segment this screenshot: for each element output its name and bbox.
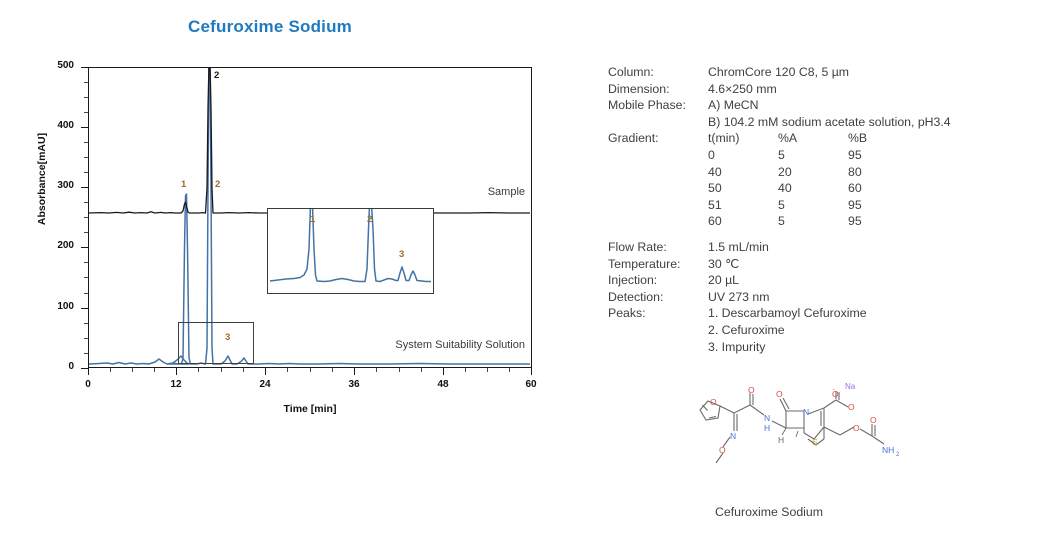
method-row-detection: Detection: UV 273 nm <box>608 289 1048 306</box>
atom-label-o-minus: - <box>833 387 835 393</box>
method-row-temperature: Temperature: 30 ℃ <box>608 256 1048 273</box>
x-axis-tick <box>354 368 355 375</box>
method-row-injection: Injection: 20 µL <box>608 272 1048 289</box>
sample-trace-label: Sample <box>488 186 525 198</box>
peaks-label: Peaks: <box>608 305 708 322</box>
x-axis-minor-tick <box>310 368 311 372</box>
x-axis-minor-tick <box>132 368 133 372</box>
x-axis-minor-tick <box>465 368 466 372</box>
peaks-row-2: 2. Cefuroxime <box>608 322 1048 339</box>
x-axis-tick <box>265 368 266 375</box>
x-axis-minor-tick <box>221 368 222 372</box>
x-axis-tick <box>443 368 444 375</box>
method-value: 20 µL <box>708 272 1048 289</box>
method-value: 4.6×250 mm <box>708 81 1048 98</box>
atom-label-o: O <box>870 415 877 425</box>
x-tick-label: 36 <box>334 379 374 390</box>
gradient-cell-b: 80 <box>848 164 918 181</box>
peak-identity: 2. Cefuroxime <box>708 322 785 339</box>
x-tick-label: 24 <box>245 379 285 390</box>
gradient-cell-time: 40 <box>708 164 778 181</box>
method-row-dimension: Dimension: 4.6×250 mm <box>608 81 1048 98</box>
x-axis-minor-tick <box>154 368 155 372</box>
peak-identity: 1. Descarbamoyl Cefuroxime <box>708 305 867 322</box>
x-axis-minor-tick <box>287 368 288 372</box>
atom-label-h: H <box>764 423 770 433</box>
suitability-peak-label-1: 1 <box>181 179 186 190</box>
x-axis-tick <box>176 368 177 375</box>
gradient-cell-time: 51 <box>708 197 778 214</box>
structure-caption: Cefuroxime Sodium <box>715 505 823 519</box>
atom-label-n: N <box>764 413 770 423</box>
gradient-header-b: %B <box>848 130 918 147</box>
gradient-cell-a: 40 <box>778 180 848 197</box>
x-axis-minor-tick <box>509 368 510 372</box>
x-axis-tick <box>531 368 532 375</box>
x-axis-minor-tick <box>198 368 199 372</box>
method-value: 1.5 mL/min <box>708 239 1048 256</box>
atom-label-o: O <box>853 423 860 433</box>
atom-label-o: O <box>848 402 855 412</box>
atom-label-o: O <box>776 389 783 399</box>
inset-magnified-view: 1 2 3 <box>267 208 434 294</box>
atom-label-nh2-sub: 2 <box>896 452 900 458</box>
x-axis-minor-tick <box>487 368 488 372</box>
inset-peak-label-1: 1 <box>310 214 315 225</box>
method-row-flow-rate: Flow Rate: 1.5 mL/min <box>608 239 1048 256</box>
x-axis-minor-tick <box>376 368 377 372</box>
y-axis-tick <box>81 67 88 68</box>
chromatogram-chart: Absorbance[mAU] 500 400 300 200 100 0 <box>0 55 580 435</box>
x-tick-label: 48 <box>423 379 463 390</box>
peaks-row-3: 3. Impurity <box>608 339 1048 356</box>
gradient-row: 60 5 95 <box>608 213 1048 230</box>
x-tick-label: 60 <box>511 379 551 390</box>
y-tick-label: 300 <box>34 180 74 191</box>
inset-peak-label-3: 3 <box>399 249 404 260</box>
y-axis-tick <box>81 247 88 248</box>
method-key <box>608 114 708 131</box>
x-axis-tick <box>88 368 89 375</box>
x-tick-label: 0 <box>68 379 108 390</box>
atom-label-o: O <box>719 445 726 455</box>
gradient-cell-b: 95 <box>848 147 918 164</box>
x-tick-label: 12 <box>156 379 196 390</box>
y-axis-tick <box>81 308 88 309</box>
atom-label-s: S <box>812 437 818 447</box>
method-value: A) MeCN <box>708 97 1048 114</box>
x-axis-minor-tick <box>332 368 333 372</box>
spacer <box>608 230 1048 239</box>
atom-label-h: H <box>778 435 784 445</box>
gradient-cell-b: 95 <box>848 213 918 230</box>
sample-peak-label-2: 2 <box>214 70 219 81</box>
gradient-cell-b: 95 <box>848 197 918 214</box>
method-value: ChromCore 120 C8, 5 µm <box>708 64 1048 81</box>
x-axis-minor-tick <box>110 368 111 372</box>
x-axis-title: Time [min] <box>88 403 532 415</box>
method-row-column: Column: ChromCore 120 C8, 5 µm <box>608 64 1048 81</box>
method-row-mobile-phase-a: Mobile Phase: A) MeCN <box>608 97 1048 114</box>
gradient-row: 50 40 60 <box>608 180 1048 197</box>
x-axis-minor-tick <box>399 368 400 372</box>
atom-label-na: Na <box>845 383 856 391</box>
y-tick-label: 400 <box>34 120 74 131</box>
gradient-header-row: Gradient: t(min) %A %B <box>608 130 1048 147</box>
atom-label-n: N <box>803 407 809 417</box>
gradient-cell-time: 0 <box>708 147 778 164</box>
y-tick-label: 500 <box>34 60 74 71</box>
method-value: B) 104.2 mM sodium acetate solution, pH3… <box>708 114 1048 131</box>
y-axis-tick <box>81 368 88 369</box>
y-tick-label: 200 <box>34 240 74 251</box>
suitability-trace-label: System Suitability Solution <box>395 339 525 351</box>
gradient-cell-a: 5 <box>778 197 848 214</box>
y-axis-tick <box>81 187 88 188</box>
gradient-cell-a: 20 <box>778 164 848 181</box>
method-key: Dimension: <box>608 81 708 98</box>
method-row-mobile-phase-b: B) 104.2 mM sodium acetate solution, pH3… <box>608 114 1048 131</box>
method-parameters-panel: Column: ChromCore 120 C8, 5 µm Dimension… <box>608 64 1048 355</box>
y-tick-label: 0 <box>34 361 74 372</box>
page-title: Cefuroxime Sodium <box>188 17 352 37</box>
gradient-cell-time: 60 <box>708 213 778 230</box>
gradient-label: Gradient: <box>608 130 708 147</box>
gradient-header-time: t(min) <box>708 130 778 147</box>
x-axis-minor-tick <box>421 368 422 372</box>
x-axis-minor-tick <box>243 368 244 372</box>
suitability-peak-label-3: 3 <box>225 332 230 343</box>
atom-label-nh2: NH <box>882 445 894 455</box>
method-value: 30 ℃ <box>708 256 1048 273</box>
y-tick-label: 100 <box>34 301 74 312</box>
peaks-row-1: Peaks: 1. Descarbamoyl Cefuroxime <box>608 305 1048 322</box>
atom-label-n: N <box>730 431 736 441</box>
method-key: Temperature: <box>608 256 708 273</box>
gradient-cell-a: 5 <box>778 147 848 164</box>
method-key: Column: <box>608 64 708 81</box>
peak-identity: 3. Impurity <box>708 339 765 356</box>
suitability-peak-label-2: 2 <box>215 179 220 190</box>
gradient-row: 51 5 95 <box>608 197 1048 214</box>
method-key: Injection: <box>608 272 708 289</box>
zoom-region-highlight <box>178 322 254 364</box>
gradient-cell-b: 60 <box>848 180 918 197</box>
gradient-row: 40 20 80 <box>608 164 1048 181</box>
gradient-row: 0 5 95 <box>608 147 1048 164</box>
gradient-cell-time: 50 <box>708 180 778 197</box>
atom-label-o: O <box>710 397 717 407</box>
inset-peak-label-2: 2 <box>367 214 372 225</box>
gradient-cell-a: 5 <box>778 213 848 230</box>
method-key: Flow Rate: <box>608 239 708 256</box>
method-key: Mobile Phase: <box>608 97 708 114</box>
chemical-structure-diagram: O N O O N H O N H S O - Na O O O NH 2 <box>690 383 960 498</box>
gradient-header-a: %A <box>778 130 848 147</box>
plot-area: 1 2 3 Sample System Suitability Solution… <box>88 67 532 368</box>
method-value: UV 273 nm <box>708 289 1048 306</box>
y-axis-tick <box>81 127 88 128</box>
atom-label-o: O <box>748 385 755 395</box>
method-key: Detection: <box>608 289 708 306</box>
